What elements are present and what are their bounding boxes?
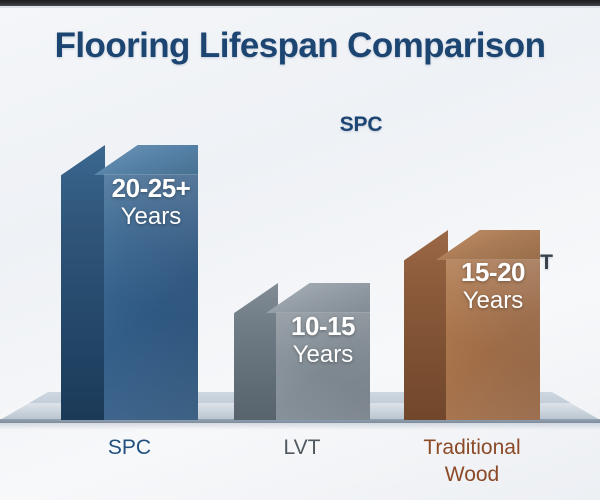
bar-value-number-wood: 15-20: [446, 258, 540, 287]
axis-label-spc: SPC: [61, 434, 198, 461]
bar-value-wood: 15-20 Years: [446, 258, 540, 314]
bar-lvt-left-face: [234, 283, 278, 420]
bar-top-label-spc: SPC: [61, 112, 600, 137]
bar-lvt-top-face: [266, 283, 370, 313]
axis-label-lvt: LVT: [234, 434, 370, 461]
bar-value-unit-wood: Years: [446, 287, 540, 314]
bar-value-unit-lvt: Years: [276, 341, 370, 368]
bar-value-spc: 20-25+ Years: [104, 174, 198, 230]
bar-spc-left-face: [61, 145, 105, 420]
axis-label-traditional-wood: Traditional Wood: [404, 434, 540, 488]
top-hairline-divider: [0, 6, 600, 8]
bar-value-unit-spc: Years: [104, 203, 198, 230]
flooring-lifespan-infographic: Flooring Lifespan Comparison SPC 20-25+ …: [0, 0, 600, 500]
bar-wood-top-face: [436, 230, 540, 260]
bar-value-number-spc: 20-25+: [104, 174, 198, 203]
bar-spc-top-face: [94, 145, 198, 175]
chart-title: Flooring Lifespan Comparison: [0, 26, 600, 66]
bar-top-label-wood: Traditional Wood: [404, 167, 600, 217]
bar-value-lvt: 10-15 Years: [276, 312, 370, 368]
platform-drop-shadow: [0, 423, 600, 430]
bar-value-number-lvt: 10-15: [276, 312, 370, 341]
